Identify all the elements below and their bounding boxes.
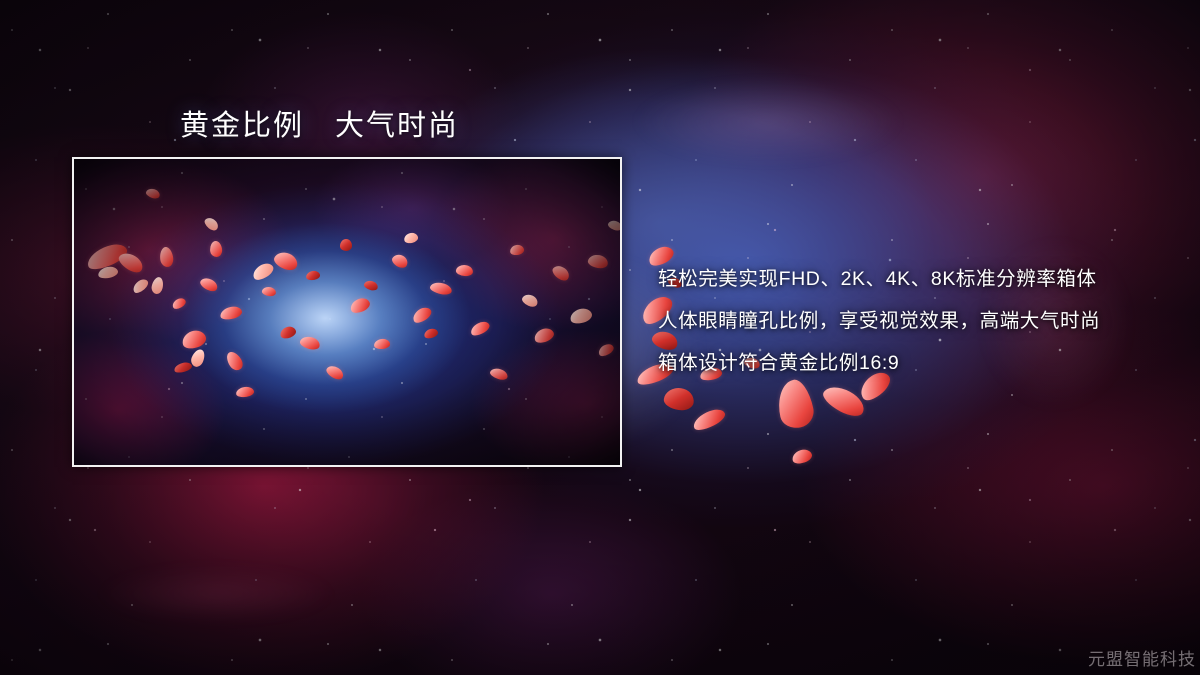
- body-line-1: 轻松完美实现FHD、2K、4K、8K标准分辨率箱体: [658, 258, 1100, 300]
- body-text-block: 轻松完美实现FHD、2K、4K、8K标准分辨率箱体 人体眼睛瞳孔比例，享受视觉效…: [658, 258, 1100, 384]
- watermark: 元盟智能科技: [1088, 645, 1196, 670]
- preview-image: [74, 159, 620, 465]
- body-line-2: 人体眼睛瞳孔比例，享受视觉效果，高端大气时尚: [658, 300, 1100, 342]
- page-title: 黄金比例 大气时尚: [180, 102, 459, 144]
- body-line-3: 箱体设计符合黄金比例16:9: [658, 342, 1100, 384]
- inner-vignette: [74, 159, 620, 465]
- preview-image-frame: [72, 157, 622, 467]
- presentation-slide: 黄金比例 大气时尚: [0, 0, 1200, 675]
